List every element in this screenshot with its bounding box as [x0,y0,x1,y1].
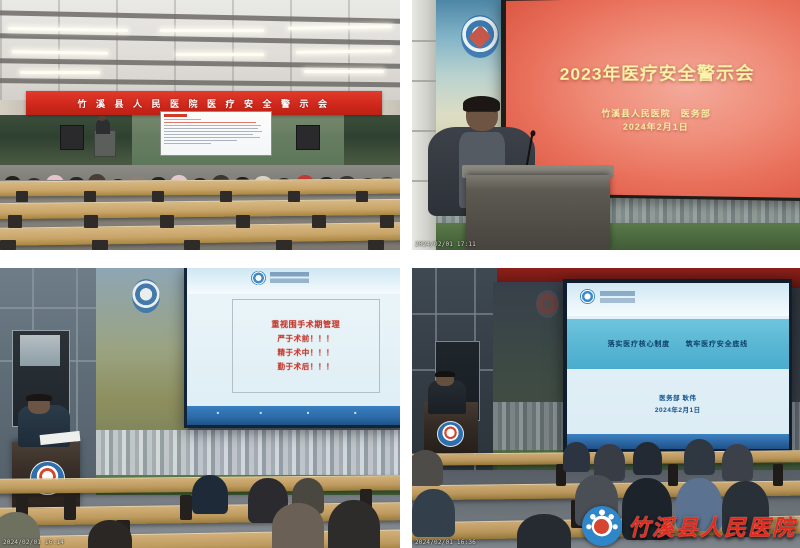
pa-speaker-cabinet [60,125,84,150]
slide-subtitle: 医务部 耿伟 2024年2月1日 [567,379,790,426]
chair-back [160,215,174,228]
ceiling-light [160,29,264,32]
slide-date: 2024年2月1日 [655,404,701,414]
slide-text-line [164,131,262,132]
pa-speaker-cabinet [296,125,320,150]
slide-line-2: 严于术前！！！ [277,333,334,344]
presenter-glasses [468,111,496,118]
chair-back [64,495,76,520]
chair-back [276,240,292,250]
slide-footer-mark: ■ [260,410,262,415]
slide-text-line [164,119,201,120]
slide-subtitle-line1: 竹溪县人民医院 医务部 [602,107,712,121]
chair-back [236,215,250,228]
slide-footer-mark: ■ [307,410,309,415]
chair-back [668,464,678,486]
chair-back [288,191,300,202]
chair-back [220,191,232,202]
slide-line-3: 精于术中！！！ [277,347,334,358]
slide-header-text [600,291,636,303]
audience-member [412,489,455,537]
audience-member [192,475,228,514]
event-banner-text: 竹 溪 县 人 民 医 院 医 疗 安 全 警 示 会 [77,97,330,110]
mullion [0,307,104,309]
audience-member [517,514,571,548]
audience-member [272,503,324,548]
mullion [412,313,497,315]
chair-back [84,191,96,202]
watermark: 竹溪县人民医院 [582,506,796,546]
slide-footer-mark: ■ [354,410,356,415]
chair-back [773,464,783,486]
slide-text-line [164,134,253,135]
desk-area [0,180,400,250]
audience-member [563,442,590,473]
photo-top-right[interactable]: 2023年医疗安全警示会 竹溪县人民医院 医务部 2024年2月1日 2024/… [412,0,800,250]
projection-screen [160,111,272,156]
projection-screen: 重视围手术期管理 严于术前！！！ 精于术中！！！ 勤于术后！！！ ■ ■ ■ ■ [184,268,400,428]
hospital-emblem-icon [582,506,622,546]
desk-row [0,199,400,220]
photo-top-left[interactable]: 竹 溪 县 人 民 医 院 医 疗 安 全 警 示 会 [0,0,400,250]
slide-text-line [164,122,256,123]
lectern [466,175,610,250]
slide-line-1: 重视围手术期管理 [271,319,340,330]
slide-text-line [164,140,237,141]
slide-text-box: 重视围手术期管理 严于术前！！！ 精于术中！！！ 勤于术后！！！ [232,299,380,392]
emblem-stars-icon [582,506,622,546]
photo-bottom-left[interactable]: 重视围手术期管理 严于术前！！！ 精于术中！！！ 勤于术后！！！ ■ ■ ■ ■ [0,268,400,548]
chair-back [184,240,200,250]
presentation-slide: 落实医疗核心制度 筑牢医疗安全底线 医务部 耿伟 2024年2月1日 [567,283,790,450]
presenter-hair [26,394,51,401]
slide-text-line [164,137,260,138]
podium [94,130,116,157]
presenter-hair [435,371,455,377]
watermark-text: 竹溪县人民医院 [628,510,796,542]
presenter-head [98,116,106,121]
slide-title-bar [164,114,187,117]
hospital-emblem-icon [132,279,160,313]
slide-footer-band: ■ ■ ■ ■ [187,406,400,425]
chair-back [312,215,326,228]
chair-back [380,215,394,228]
audience-member [412,450,443,486]
desk-row [0,178,400,196]
chair-back [16,191,28,202]
chair-back [180,495,192,520]
chair-back [0,240,16,250]
pillar-seam [412,80,436,82]
ceiling-light [176,53,264,56]
slide-line-4: 勤于术后！！！ [277,361,334,372]
slide-text-line [164,128,258,129]
chair-back [368,240,384,250]
chair-back [92,240,108,250]
slide-headline: 落实医疗核心制度 筑牢医疗安全底线 [608,339,748,349]
desk-row [0,222,400,246]
slide-subtitle: 竹溪县人民医院 医务部 2024年2月1日 [602,107,712,134]
slide-hospital-logo-icon [251,271,266,285]
photo-timestamp: 2024/02/01 17:11 [415,241,476,248]
chair-back [84,215,98,228]
presentation-slide: 重视围手术期管理 严于术前！！！ 精于术中！！！ 勤于术后！！！ ■ ■ ■ ■ [187,268,400,425]
hospital-emblem-icon [461,15,500,58]
ceiling-light [20,71,100,74]
door-window [20,335,60,366]
slide-subtitle-line2: 2024年2月1日 [602,120,712,134]
slide-text-line [164,125,261,126]
presenter-body [96,119,110,134]
photo-grid: 竹 溪 县 人 民 医 院 医 疗 安 全 警 示 会 [0,0,800,548]
audience-member [722,444,753,480]
ceiling-light [304,70,384,73]
presenter-hair [463,96,500,112]
projection-screen: 落实医疗核心制度 筑牢医疗安全底线 医务部 耿伟 2024年2月1日 [563,279,792,453]
slide-footer-mark: ■ [217,410,219,415]
audience-member [684,439,715,475]
audience-member [328,500,380,548]
slide-title: 2023年医疗安全警示会 [560,58,755,84]
photo-timestamp: 2024/02/01 16:14 [3,539,64,546]
pillar-seam [412,40,436,42]
chair-back [152,191,164,202]
photo-timestamp: 2024/02/01 16:36 [415,539,476,546]
chair-back [356,191,368,202]
slide-presenter: 医务部 耿伟 [659,392,696,402]
slide-text-line [164,143,211,144]
audience-member [633,442,662,476]
slide-headline-band: 落实医疗核心制度 筑牢医疗安全底线 [567,319,790,369]
chair-back [8,215,22,228]
slide-header-text [270,272,309,283]
